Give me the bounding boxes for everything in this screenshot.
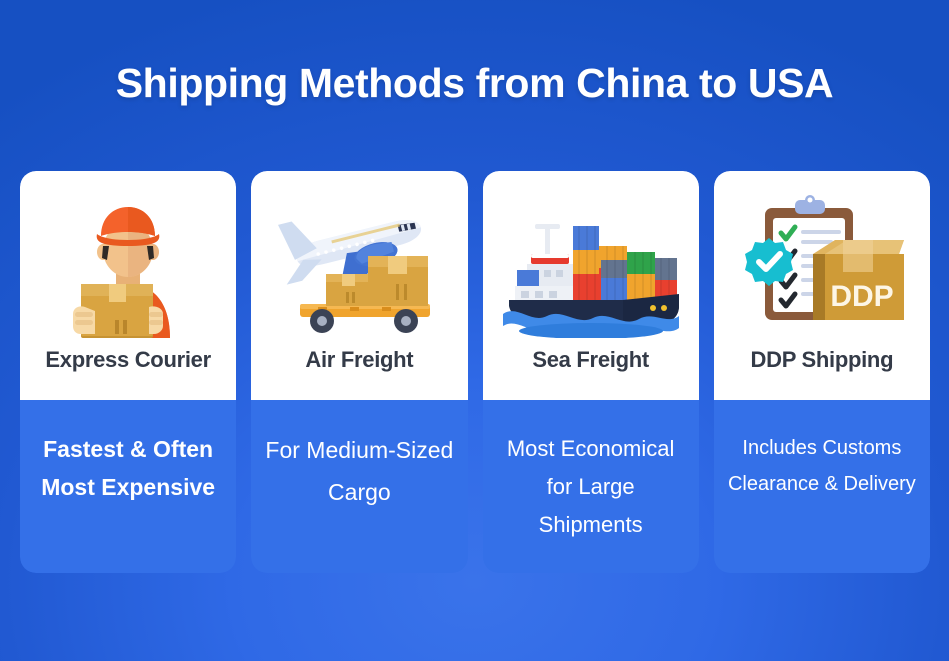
card-description-express-courier: Fastest & Often Most Expensive (20, 400, 236, 573)
card-description-sea-freight: Most Economical for Large Shipments (483, 400, 699, 573)
ddp-clipboard-box-icon: DDP (714, 179, 930, 347)
card-face-air-freight: Air Freight (251, 171, 467, 400)
ddp-box-label: DDP (831, 280, 894, 313)
card-description-text: Includes Customs Clearance & Delivery (726, 430, 918, 502)
cargo-ship-icon (483, 179, 699, 347)
page-title: Shipping Methods from China to USA (0, 60, 949, 107)
card-sea-freight[interactable]: Sea Freight Most Economical for Large Sh… (483, 171, 699, 573)
card-air-freight[interactable]: Air Freight For Medium-Sized Cargo (251, 171, 467, 573)
card-description-ddp-shipping: Includes Customs Clearance & Delivery (714, 400, 930, 573)
card-ddp-shipping[interactable]: DDP DDP Shipping Includes Customs Cleara… (714, 171, 930, 573)
shipping-methods-card-row: Express Courier Fastest & Often Most Exp… (20, 171, 930, 573)
card-face-sea-freight: Sea Freight (483, 171, 699, 400)
card-face-express-courier: Express Courier (20, 171, 236, 400)
card-title-air-freight: Air Freight (305, 349, 413, 371)
air-freight-plane-icon (251, 179, 467, 347)
card-face-ddp-shipping: DDP DDP Shipping (714, 171, 930, 400)
card-description-text: For Medium-Sized Cargo (263, 430, 455, 514)
card-description-air-freight: For Medium-Sized Cargo (251, 400, 467, 573)
card-express-courier[interactable]: Express Courier Fastest & Often Most Exp… (20, 171, 236, 573)
card-title-ddp-shipping: DDP Shipping (751, 349, 894, 371)
card-title-express-courier: Express Courier (45, 349, 210, 371)
card-description-text: Fastest & Often Most Expensive (32, 430, 224, 507)
card-title-sea-freight: Sea Freight (532, 349, 649, 371)
card-description-text: Most Economical for Large Shipments (495, 430, 687, 544)
delivery-courier-icon (20, 179, 236, 347)
